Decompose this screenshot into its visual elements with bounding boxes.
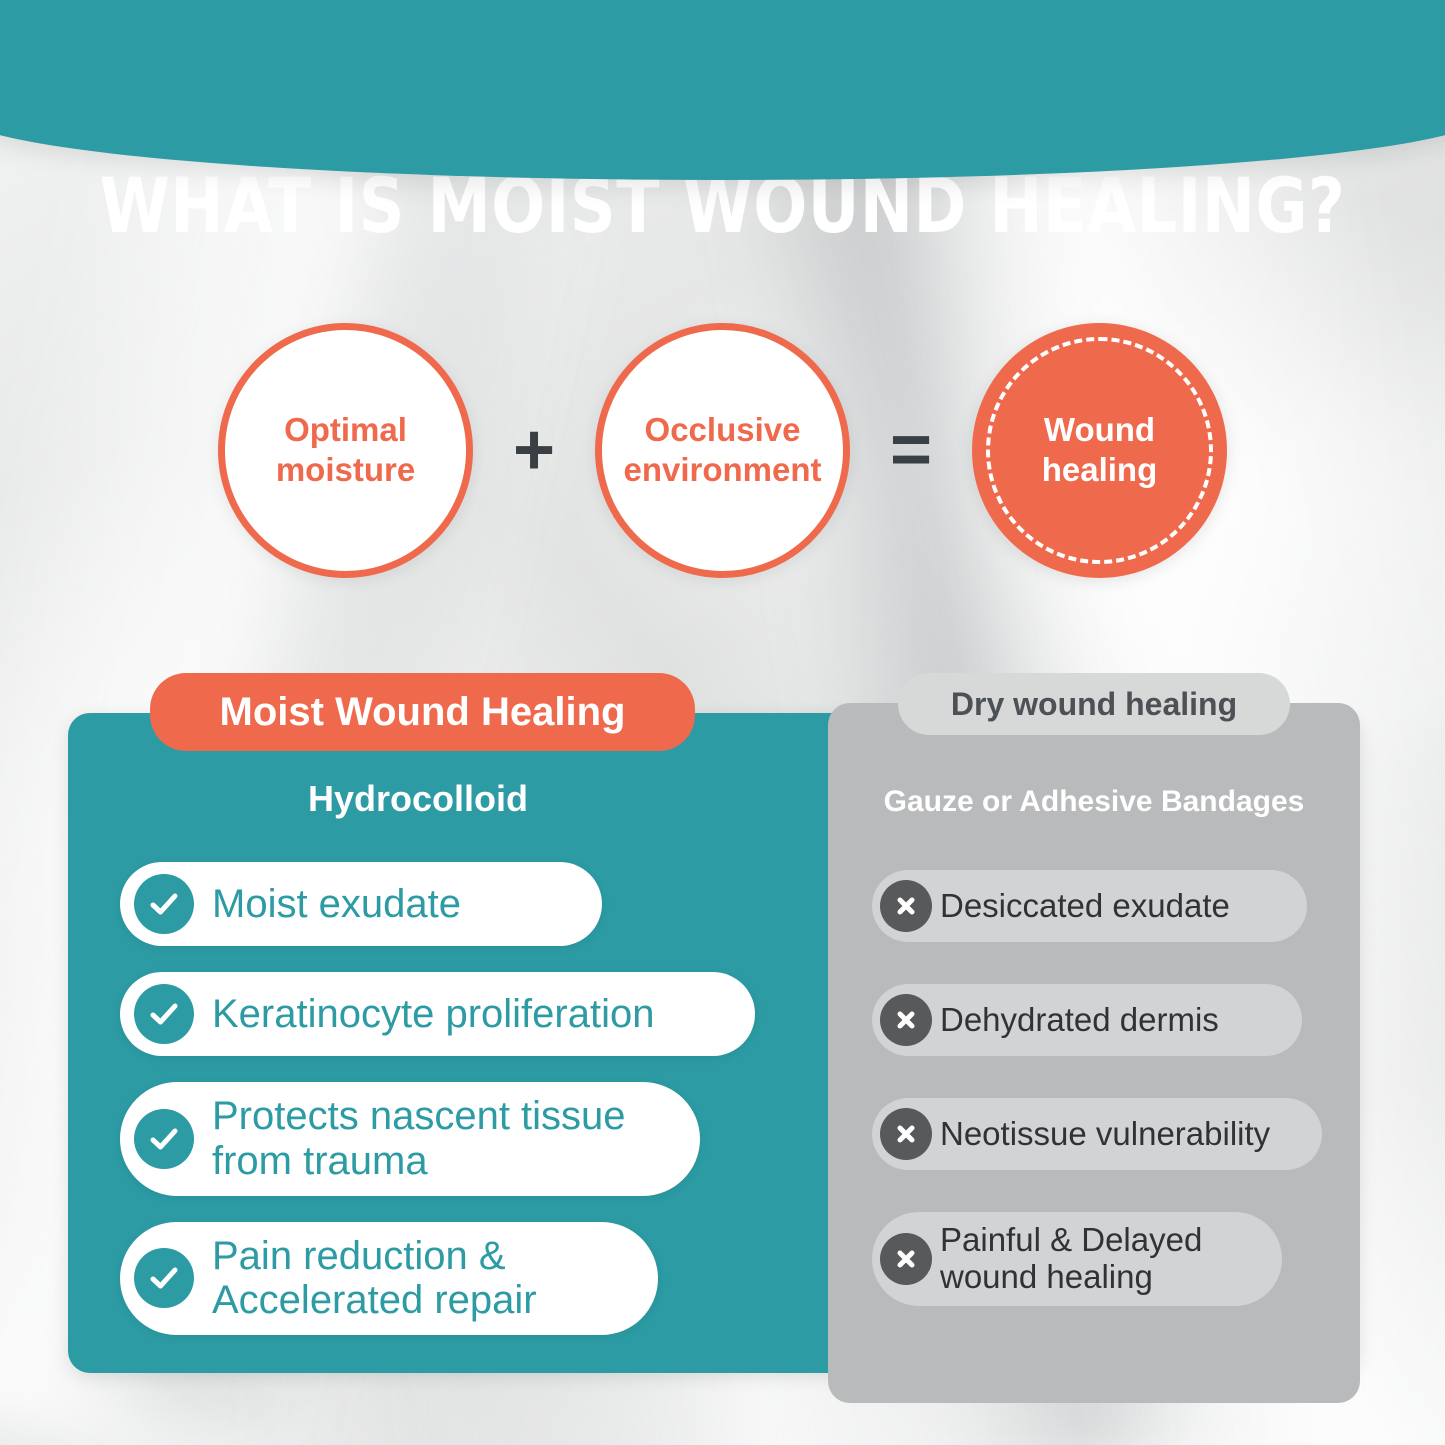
list-item: Moist exudate <box>120 862 602 946</box>
list-item-label: Desiccated exudate <box>940 888 1230 925</box>
equation-result-label: Wound healing <box>972 410 1227 489</box>
x-icon <box>880 1108 932 1160</box>
check-icon <box>134 1109 194 1169</box>
equation-term-label: Occlusive environment <box>601 410 843 489</box>
x-icon <box>880 1233 932 1285</box>
equation-term-label: Optimal moisture <box>225 410 466 489</box>
plus-operator: + <box>499 414 569 486</box>
list-item-label: Protects nascent tissue from trauma <box>212 1094 626 1184</box>
list-item: Dehydrated dermis <box>872 984 1302 1056</box>
infographic-canvas: WHAT IS MOIST WOUND HEALING? Optimal moi… <box>0 0 1445 1445</box>
list-item: Pain reduction & Accelerated repair <box>120 1222 658 1336</box>
list-item-label: Painful & Delayed wound healing <box>940 1222 1202 1296</box>
equation-term-optimal-moisture: Optimal moisture <box>218 323 473 578</box>
list-item: Protects nascent tissue from trauma <box>120 1082 700 1196</box>
check-icon <box>134 984 194 1044</box>
check-icon <box>134 1248 194 1308</box>
x-icon <box>880 880 932 932</box>
list-item: Neotissue vulnerability <box>872 1098 1322 1170</box>
moist-benefit-list: Moist exudate Keratinocyte proliferation… <box>120 862 820 1361</box>
moist-panel-header: Moist Wound Healing <box>150 673 695 751</box>
list-item: Painful & Delayed wound healing <box>872 1212 1282 1306</box>
list-item-label: Moist exudate <box>212 882 461 927</box>
moist-panel-subtitle: Hydrocolloid <box>68 778 768 820</box>
header-banner <box>0 0 1445 180</box>
list-item-label: Keratinocyte proliferation <box>212 992 654 1037</box>
dry-panel-header: Dry wound healing <box>898 673 1290 735</box>
dry-panel-subtitle: Gauze or Adhesive Bandages <box>828 785 1360 819</box>
x-icon <box>880 994 932 1046</box>
list-item-label: Dehydrated dermis <box>940 1002 1219 1039</box>
dry-drawback-list: Desiccated exudate Dehydrated dermis Neo… <box>872 870 1332 1348</box>
equation-term-occlusive-environment: Occlusive environment <box>595 323 850 578</box>
equation-result-wound-healing: Wound healing <box>972 323 1227 578</box>
list-item-label: Neotissue vulnerability <box>940 1116 1270 1153</box>
list-item: Keratinocyte proliferation <box>120 972 755 1056</box>
equals-operator: = <box>876 414 946 486</box>
list-item: Desiccated exudate <box>872 870 1307 942</box>
comparison-section: Moist Wound Healing Dry wound healing Hy… <box>0 665 1445 1425</box>
equation-row: Optimal moisture + Occlusive environment… <box>0 300 1445 600</box>
list-item-label: Pain reduction & Accelerated repair <box>212 1234 537 1324</box>
check-icon <box>134 874 194 934</box>
